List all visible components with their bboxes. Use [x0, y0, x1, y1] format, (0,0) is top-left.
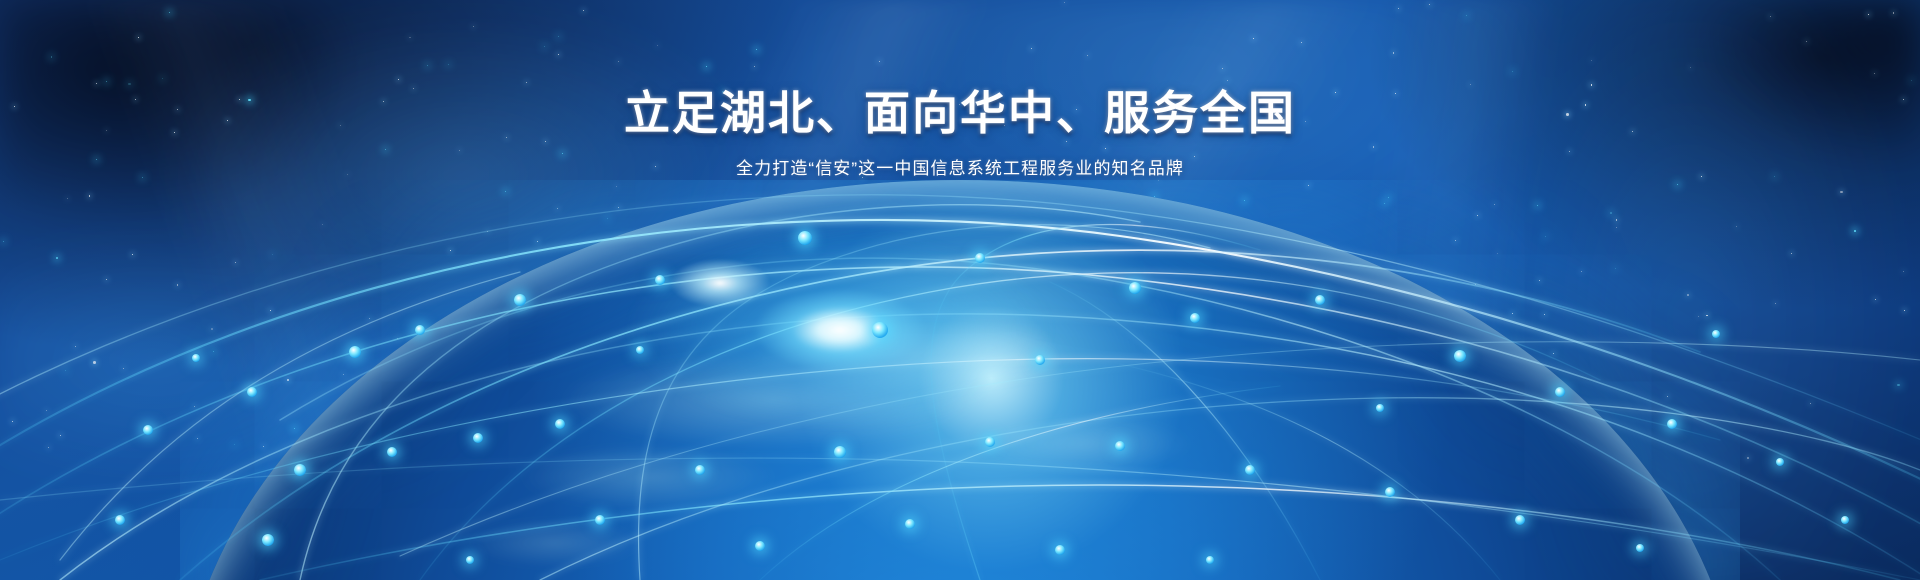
banner-title: 立足湖北、面向华中、服务全国: [0, 86, 1920, 140]
banner-copy: 立足湖北、面向华中、服务全国 全力打造“信安”这一中国信息系统工程服务业的知名品…: [0, 0, 1920, 179]
banner-subtitle: 全力打造“信安”这一中国信息系统工程服务业的知名品牌: [0, 154, 1920, 179]
hero-banner: 立足湖北、面向华中、服务全国 全力打造“信安”这一中国信息系统工程服务业的知名品…: [0, 0, 1920, 580]
